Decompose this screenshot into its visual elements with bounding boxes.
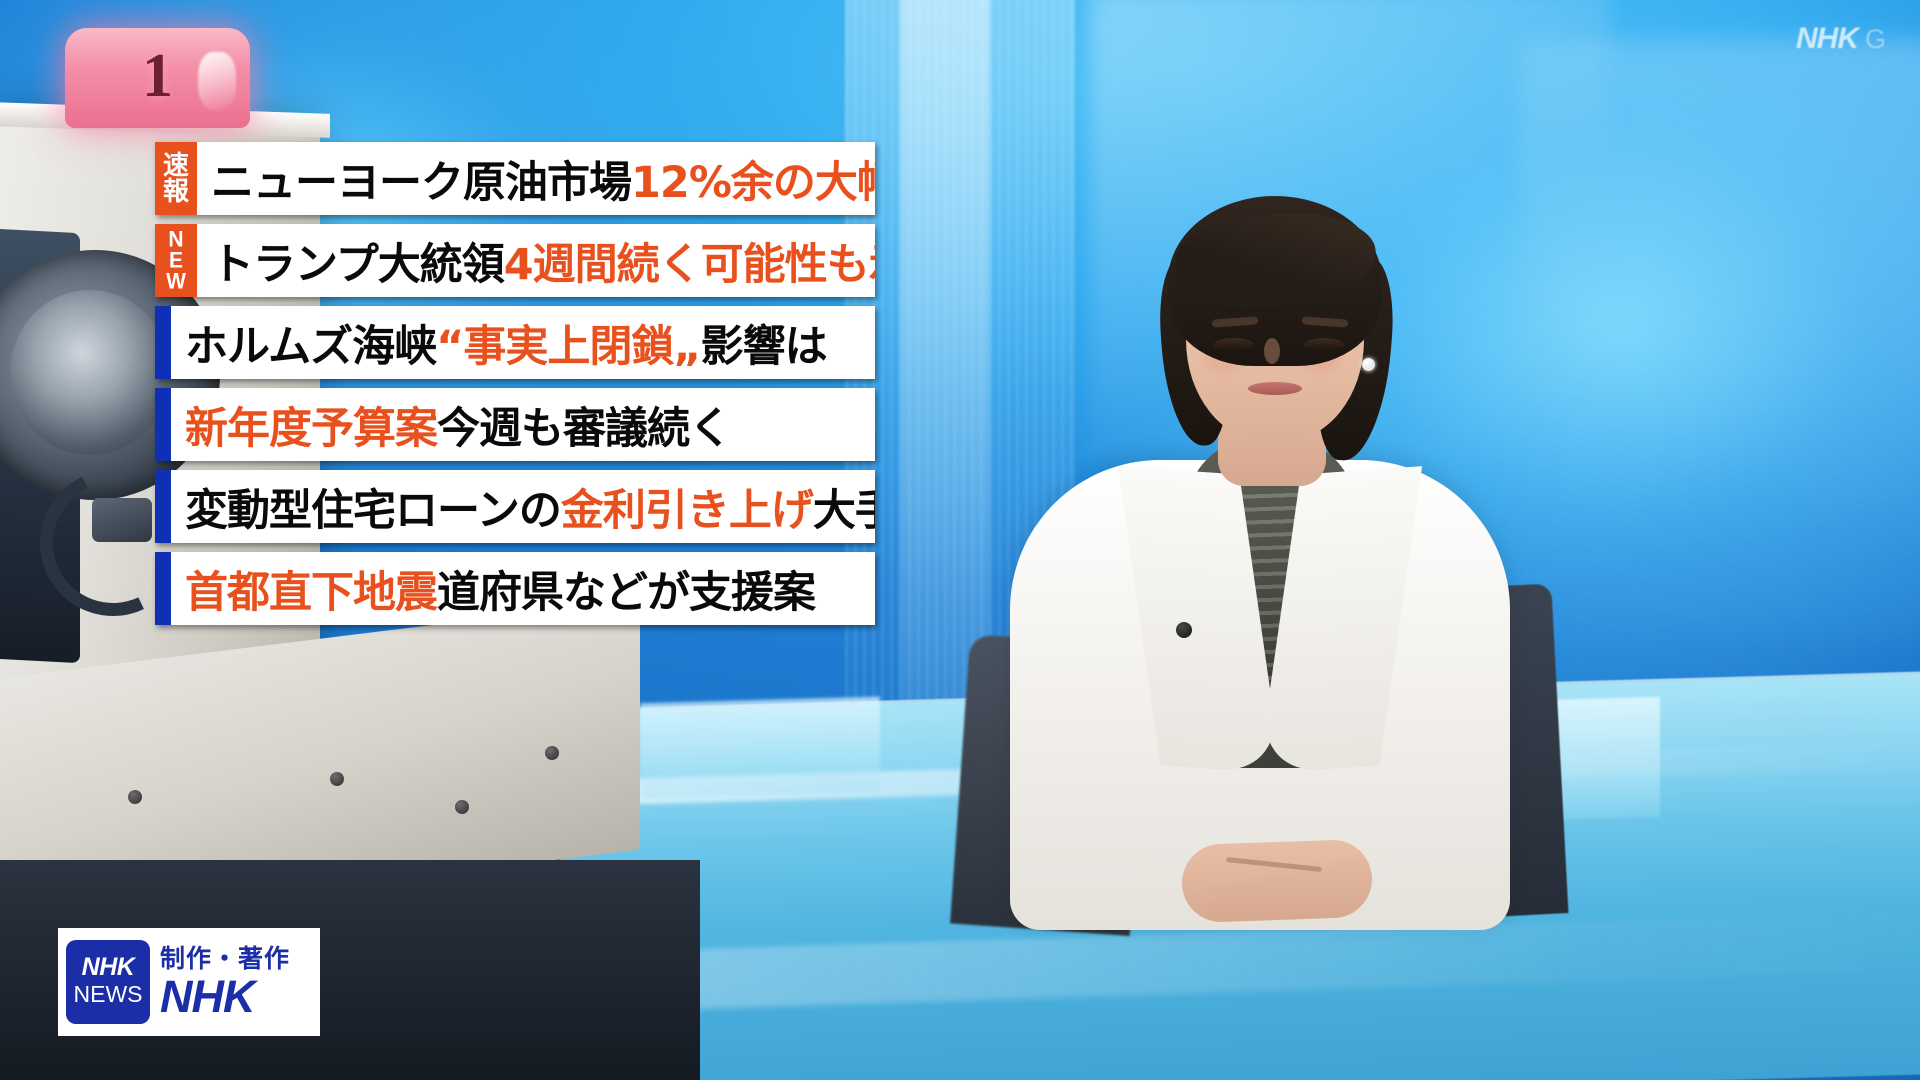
headline-segment: ホルムズ海峡 <box>185 312 436 374</box>
lapel-microphone <box>1176 622 1192 638</box>
anchor-hands <box>1181 839 1374 924</box>
headline-text: トランプ大統領 4週間続く可能性も示唆 <box>197 224 875 297</box>
headline-text: ホルムズ海峡“事実上閉鎖„ 影響は <box>171 306 875 379</box>
headline-row[interactable]: NEWトランプ大統領 4週間続く可能性も示唆 <box>155 224 875 297</box>
headline-text: ニューヨーク原油市場 12%余の大幅上昇 <box>197 142 875 215</box>
headline-segment-highlight: 新年度予算案 <box>185 394 437 456</box>
headline-segment-highlight: 金利引き上げ <box>561 476 813 538</box>
channel-watermark: NHK G <box>1796 22 1886 56</box>
camera-knob <box>92 498 152 542</box>
headline-row[interactable]: ホルムズ海峡“事実上閉鎖„ 影響は <box>155 306 875 379</box>
headline-marker-bar <box>155 388 171 461</box>
headline-segment: ニューヨーク原油市場 <box>211 148 631 210</box>
anchor-mouth <box>1248 382 1302 395</box>
broadcast-credit: NHK NEWS 制作・著作 NHK <box>58 928 320 1036</box>
badge-char: N <box>168 228 183 250</box>
camera-screw-2 <box>330 772 344 786</box>
nhk-news-logo: NHK NEWS <box>66 940 150 1024</box>
headline-row[interactable]: 新年度予算案 今週も審議続く <box>155 388 875 461</box>
headline-segment: トランプ大統領 <box>211 230 504 292</box>
headline-row[interactable]: 速報ニューヨーク原油市場 12%余の大幅上昇 <box>155 142 875 215</box>
headline-segment: 変動型住宅ローンの <box>185 476 561 538</box>
credit-text: 制作・著作 NHK <box>160 945 290 1020</box>
headline-segment: 今週も審議続く <box>437 394 731 456</box>
headline-segment-highlight: 4週間続く可能性も示唆 <box>504 230 875 292</box>
anchor-eye-left <box>1214 338 1254 351</box>
headline-text: 変動型住宅ローンの金利引き上げ 大手2行 <box>171 470 875 543</box>
anchor-earring <box>1362 358 1375 371</box>
nhk-news-logo-line1: NHK <box>82 955 135 980</box>
headline-segment: 道府県などが支援案 <box>437 558 815 620</box>
nhk-news-logo-line2: NEWS <box>74 980 143 1009</box>
watermark-subchannel: G <box>1865 24 1886 55</box>
headline-marker-bar <box>155 306 171 379</box>
camera-tally-number: 1 <box>65 26 250 126</box>
badge-char: W <box>166 270 186 292</box>
badge-char: E <box>169 249 183 271</box>
news-desk-panel-left <box>640 697 880 799</box>
badge-char: 速 <box>163 153 189 179</box>
headline-text: 新年度予算案 今週も審議続く <box>171 388 875 461</box>
headline-marker-bar <box>155 470 171 543</box>
badge-char: 報 <box>163 179 189 205</box>
headline-row[interactable]: 変動型住宅ローンの金利引き上げ 大手2行 <box>155 470 875 543</box>
camera-screw-3 <box>455 800 469 814</box>
new-badge: NEW <box>155 224 197 297</box>
credit-brand: NHK <box>160 974 290 1019</box>
camera-screw-1 <box>128 790 142 804</box>
studio-glass-column-inner <box>900 0 990 715</box>
credit-caption: 制作・著作 <box>160 945 290 973</box>
breaking-news-badge: 速報 <box>155 142 197 215</box>
anchor-eye-right <box>1304 338 1344 351</box>
studio-panel-right <box>1520 40 1920 640</box>
headline-text: 首都直下地震 道府県などが支援案 <box>171 552 875 625</box>
headline-segment: 大手2行 <box>813 476 875 538</box>
headline-segment-highlight: 12%余の大幅上昇 <box>631 148 875 210</box>
headline-segment: 影響は <box>701 312 827 374</box>
camera-lens-glass <box>10 290 170 455</box>
headline-row[interactable]: 首都直下地震 道府県などが支援案 <box>155 552 875 625</box>
headline-segment-highlight: “事実上閉鎖„ <box>436 312 701 374</box>
headline-marker-bar <box>155 552 171 625</box>
headline-segment-highlight: 首都直下地震 <box>185 558 437 620</box>
watermark-network: NHK <box>1796 22 1858 56</box>
anchor-nose <box>1264 338 1280 364</box>
camera-screw-4 <box>545 746 559 760</box>
news-anchor <box>990 170 1550 930</box>
headline-list: 速報ニューヨーク原油市場 12%余の大幅上昇NEWトランプ大統領 4週間続く可能… <box>155 142 875 625</box>
